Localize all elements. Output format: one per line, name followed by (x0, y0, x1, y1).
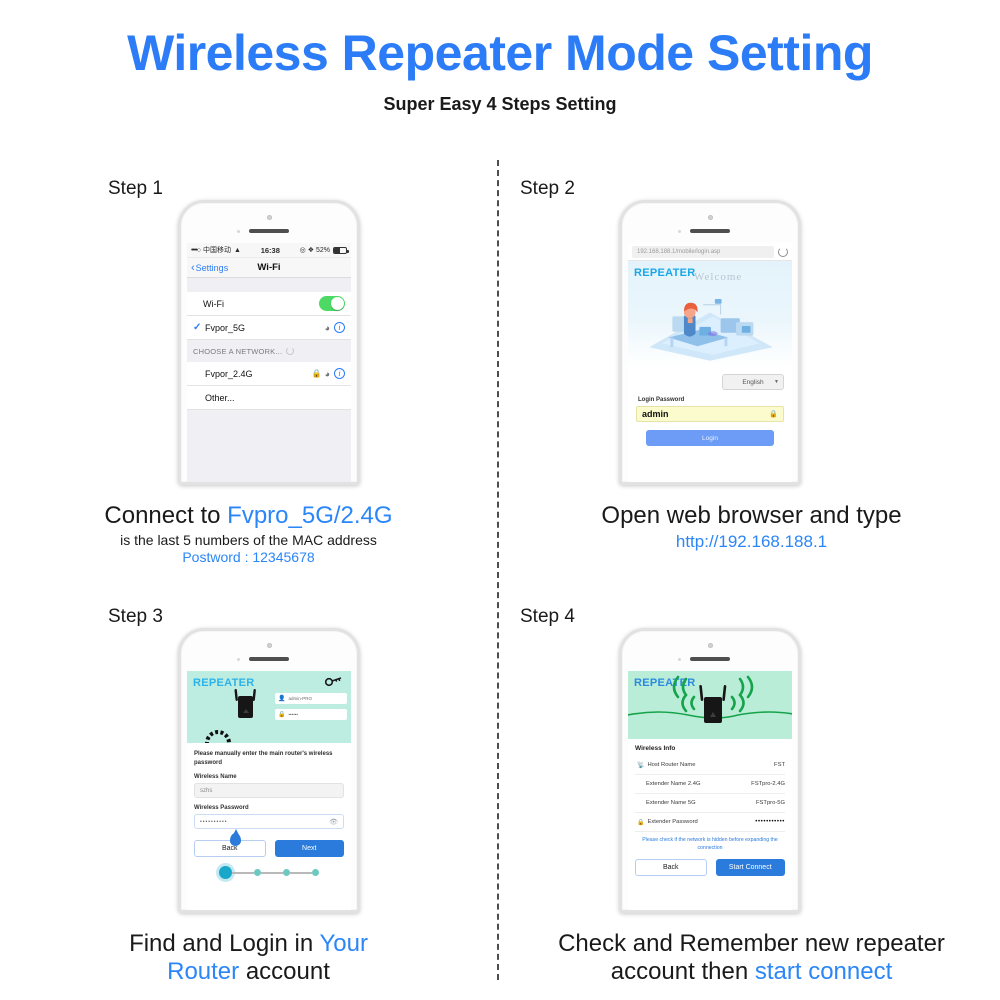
hero-password-value: •••••• (288, 712, 297, 717)
rotation-lock-icon: ◎ (300, 246, 306, 254)
step-3-label: Step 3 (108, 606, 163, 628)
wireless-setup-hero: REPEATER 👤 admin-PRO (187, 671, 351, 743)
lock-icon: 🔒 (312, 369, 322, 378)
language-select[interactable]: English ▼ (722, 374, 784, 390)
chevron-down-icon: ▼ (774, 379, 779, 385)
progress-dot[interactable] (254, 869, 261, 876)
login-button[interactable]: Login (646, 430, 774, 446)
other-network-label: Other... (193, 393, 345, 403)
volume-down-button (619, 737, 620, 759)
step-2-caption-main: Open web browser and type (503, 502, 1000, 530)
proximity-sensor-icon (237, 658, 240, 661)
connected-network-label: Fvpor_5G (203, 323, 325, 333)
hero-password-field[interactable]: 🔒 •••••• (275, 709, 347, 720)
earpiece-speaker (249, 657, 289, 661)
welcome-label: Welcome (694, 271, 742, 283)
wireless-info-section: Wireless Info 📡 Host Router Name FST Ext… (628, 739, 792, 876)
step-1-panel: Step 1 ••••○ 中国移动 ▲ 16:38 ◎ ❖ 52% (0, 160, 497, 580)
next-button[interactable]: Next (275, 840, 345, 857)
reload-icon[interactable] (778, 247, 788, 257)
power-button (800, 701, 801, 731)
eye-icon[interactable]: 👁 (329, 818, 338, 826)
wireless-password-input[interactable]: •••••••••• 👁 (194, 814, 344, 829)
phone-mockup-step4: REPEATER (619, 628, 801, 913)
browser-url-bar: 192.168.188.1/mobile/login.asp (628, 243, 792, 261)
step-4-caption: Check and Remember new repeater account … (503, 930, 1000, 987)
login-password-input[interactable]: admin 🔒 (636, 406, 784, 422)
power-button (359, 701, 360, 731)
front-camera-icon (267, 643, 272, 648)
wireless-password-value: •••••••••• (200, 819, 329, 825)
table-row: 🔒 Extender Password ••••••••••• (635, 813, 785, 832)
step-4-caption-main: Check and Remember new repeater (503, 930, 1000, 958)
step-3-caption-line2-highlight: Router (167, 958, 239, 985)
table-row: Extender Name 5G FSTpro-5G (635, 794, 785, 813)
choose-network-label: CHOOSE A NETWORK... (193, 347, 282, 356)
back-button[interactable]: Back (635, 859, 707, 876)
front-camera-icon (708, 643, 713, 648)
gear-icon (203, 725, 233, 743)
setup-instruction: Please manually enter the main router's … (194, 750, 344, 767)
info-button-row: Back Start Connect (635, 859, 785, 876)
status-right-group: ◎ ❖ 52% (300, 246, 347, 254)
hidden-network-warning: Please check if the network is hidden be… (637, 837, 783, 853)
host-router-name-value: FST (774, 762, 785, 768)
phone-mockup-step3: REPEATER 👤 admin-PRO (178, 628, 360, 913)
step-3-caption-highlight: Your (319, 930, 368, 957)
front-camera-icon (267, 215, 272, 220)
wifi-toggle-row[interactable]: Wi-Fi (187, 292, 351, 316)
nav-title: Wi-Fi (187, 262, 351, 273)
hero-username-value: admin-PRO (288, 696, 312, 701)
repeater-brand-label: REPEATER (634, 267, 695, 279)
extender-password-value: ••••••••••• (755, 819, 785, 825)
key-icon (325, 675, 343, 688)
lock-icon: 🔒 (769, 410, 778, 418)
host-router-name-label: Host Router Name (647, 762, 695, 768)
ios-status-bar: ••••○ 中国移动 ▲ 16:38 ◎ ❖ 52% (187, 243, 351, 258)
step-1-caption-highlight: Fvpro_5G/2.4G (227, 502, 392, 529)
network-info-icon[interactable]: i (334, 322, 345, 333)
hero-username-field[interactable]: 👤 admin-PRO (275, 693, 347, 704)
status-time: 16:38 (241, 246, 300, 255)
location-icon: ❖ (308, 246, 314, 254)
available-network-row[interactable]: Fvpor_2.4G 🔒 ◕ i (187, 362, 351, 386)
step-4-caption-line2: account then start connect (503, 958, 1000, 986)
page-subtitle: Super Easy 4 Steps Setting (0, 94, 1000, 115)
step-2-panel: Step 2 192.168.188.1/mobile/login.asp RE… (503, 160, 1000, 580)
step-progress-dots (194, 866, 344, 879)
language-value: English (742, 379, 763, 386)
earpiece-speaker (690, 229, 730, 233)
wifi-settings-list: Wi-Fi ✓ Fvpor_5G ◕ i CHOOSE A NETWORK... (187, 278, 351, 482)
carrier-label: 中国移动 (203, 245, 231, 255)
step-3-panel: Step 3 REPEATER (0, 588, 497, 1000)
wifi-signal-icon: ◕ (325, 323, 330, 333)
proximity-sensor-icon (678, 230, 681, 233)
phone-mockup-step2: 192.168.188.1/mobile/login.asp REPEATER … (619, 200, 801, 485)
progress-track (261, 872, 283, 874)
table-row: 📡 Host Router Name FST (635, 756, 785, 775)
table-row: Extender Name 2.4G FSTpro-2.4G (635, 775, 785, 794)
choose-network-header: CHOOSE A NETWORK... (187, 340, 351, 362)
phone-screen-step2: 192.168.188.1/mobile/login.asp REPEATER … (628, 243, 792, 482)
wireless-info-hero: REPEATER (628, 671, 792, 739)
router-icon: 📡 (637, 762, 644, 769)
wireless-name-input[interactable]: szhs (194, 783, 344, 798)
wireless-name-value: szhs (200, 788, 212, 794)
poster-root: Wireless Repeater Mode Setting Super Eas… (0, 0, 1000, 1000)
extender-password-key: 🔒 Extender Password (635, 819, 755, 826)
step-4-caption-line2-prefix: account then (611, 958, 755, 985)
available-network-label: Fvpor_2.4G (193, 369, 312, 379)
login-password-value: admin (642, 409, 669, 419)
phone-screen-step4: REPEATER (628, 671, 792, 910)
volume-up-button (619, 709, 620, 731)
url-input[interactable]: 192.168.188.1/mobile/login.asp (632, 246, 774, 258)
isometric-illustration (628, 286, 792, 364)
progress-dot[interactable] (312, 869, 319, 876)
host-router-name-key: 📡 Host Router Name (635, 762, 774, 769)
repeater-hero-banner: REPEATER Welcome (628, 261, 792, 366)
step-1-label: Step 1 (108, 178, 163, 200)
signal-strength-icon: ••••○ (191, 247, 200, 254)
step-1-caption: Connect to Fvpro_5G/2.4G is the last 5 n… (0, 502, 497, 565)
ios-nav-bar: ‹Settings Wi-Fi (187, 258, 351, 278)
login-form: English ▼ Login Password admin 🔒 Login (628, 366, 792, 446)
progress-track (232, 872, 254, 874)
wifi-row-label: Wi-Fi (203, 299, 319, 309)
wireless-password-label: Wireless Password (194, 805, 344, 811)
list-spacer (187, 278, 351, 292)
front-camera-icon (708, 215, 713, 220)
step-3-caption-main: Find and Login in Your (0, 930, 497, 958)
proximity-sensor-icon (678, 658, 681, 661)
lock-icon: 🔒 (637, 819, 644, 826)
proximity-sensor-icon (237, 230, 240, 233)
step-1-caption-sub: is the last 5 numbers of the MAC address (0, 532, 497, 548)
progress-track (290, 872, 312, 874)
extender-name-24g-label: Extender Name 2.4G (635, 781, 751, 787)
volume-up-button (619, 281, 620, 303)
step-3-caption-prefix: Find and Login in (129, 930, 319, 957)
wireless-info-title: Wireless Info (635, 745, 785, 752)
earpiece-speaker (690, 657, 730, 661)
progress-dot-active[interactable] (219, 866, 232, 879)
wifi-icon: ▲ (234, 247, 241, 254)
extender-password-label: Extender Password (647, 819, 697, 825)
step-1-caption-prefix: Connect to (104, 502, 227, 529)
step-2-label: Step 2 (520, 178, 575, 200)
step-3-caption: Find and Login in Your Router account (0, 930, 497, 987)
volume-down-button (178, 737, 179, 759)
check-icon: ✓ (193, 322, 203, 333)
power-button (800, 273, 801, 303)
phone-mockup-step1: ••••○ 中国移动 ▲ 16:38 ◎ ❖ 52% ‹Settings (178, 200, 360, 485)
volume-up-button (178, 709, 179, 731)
page-title: Wireless Repeater Mode Setting (0, 26, 1000, 81)
extender-name-24g-value: FSTpro-2.4G (751, 781, 785, 787)
phone-screen-step3: REPEATER 👤 admin-PRO (187, 671, 351, 910)
login-password-label: Login Password (638, 397, 784, 403)
wifi-toggle-switch[interactable] (319, 296, 345, 311)
progress-dot[interactable] (283, 869, 290, 876)
wireless-name-label: Wireless Name (194, 774, 344, 780)
setup-button-row: Back Next (194, 840, 344, 857)
loading-spinner-icon (286, 347, 294, 355)
router-illustration (227, 683, 267, 721)
volume-down-button (178, 309, 179, 331)
vertical-divider (497, 160, 499, 980)
network-info-icon[interactable]: i (334, 368, 345, 379)
volume-down-button (619, 309, 620, 331)
wireless-setup-form: Please manually enter the main router's … (187, 743, 351, 879)
earpiece-speaker (249, 229, 289, 233)
battery-icon (333, 247, 347, 254)
extender-name-5g-label: Extender Name 5G (635, 800, 756, 806)
step-2-caption-link: http://192.168.188.1 (503, 532, 1000, 552)
connected-network-row[interactable]: ✓ Fvpor_5G ◕ i (187, 316, 351, 340)
step-2-caption: Open web browser and type http://192.168… (503, 502, 1000, 552)
lock-icon: 🔒 (278, 711, 285, 718)
phone-screen-step1: ••••○ 中国移动 ▲ 16:38 ◎ ❖ 52% ‹Settings (187, 243, 351, 482)
step-4-panel: Step 4 REPEATER (503, 588, 1000, 1000)
step-3-caption-line2-suffix: account (239, 958, 330, 985)
step-4-label: Step 4 (520, 606, 575, 628)
extender-name-5g-value: FSTpro-5G (756, 800, 785, 806)
battery-percent: 52% (316, 247, 330, 254)
start-connect-button[interactable]: Start Connect (716, 859, 786, 876)
cursor-pointer-indicator (230, 833, 241, 846)
step-1-password-note: Postword : 12345678 (0, 549, 497, 565)
other-network-row[interactable]: Other... (187, 386, 351, 410)
wifi-signal-icon: ◕ (325, 369, 330, 379)
signal-waves-illustration (628, 671, 792, 739)
power-button (359, 273, 360, 303)
user-icon: 👤 (278, 695, 285, 702)
step-1-caption-main: Connect to Fvpro_5G/2.4G (0, 502, 497, 530)
step-3-caption-line2: Router account (0, 958, 497, 986)
volume-up-button (178, 281, 179, 303)
step-4-caption-line2-highlight: start connect (755, 958, 892, 985)
